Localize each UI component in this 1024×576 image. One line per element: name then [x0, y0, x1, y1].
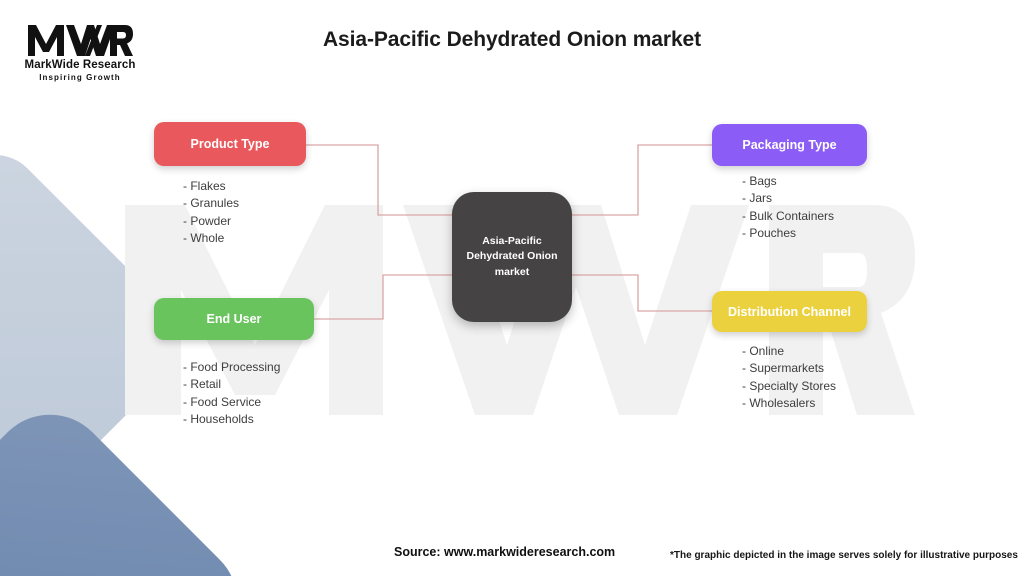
- node-product-type[interactable]: Product Type: [154, 122, 306, 166]
- logo-company-name: MarkWide Research: [16, 59, 144, 71]
- list-item: - Food Service: [183, 394, 280, 411]
- list-item: - Specialty Stores: [742, 378, 836, 395]
- node-packaging-type-label: Packaging Type: [742, 138, 836, 152]
- list-end-user: - Food Processing - Retail - Food Servic…: [183, 359, 280, 429]
- connector-product-type: [306, 145, 452, 215]
- connector-end-user: [314, 275, 452, 319]
- footer-source[interactable]: Source: www.markwideresearch.com: [394, 545, 615, 559]
- logo-tagline: Inspiring Growth: [16, 73, 144, 82]
- node-distribution-channel-label: Distribution Channel: [728, 305, 851, 319]
- node-center-market-label: Asia-Pacific Dehydrated Onion market: [460, 234, 563, 280]
- node-end-user[interactable]: End User: [154, 298, 314, 340]
- decorative-shape-light: [0, 136, 200, 546]
- list-item: - Supermarkets: [742, 360, 836, 377]
- center-line-1: Asia-Pacific: [482, 235, 542, 247]
- list-item: - Bags: [742, 173, 834, 190]
- list-item: - Granules: [183, 195, 239, 212]
- list-item: - Online: [742, 343, 836, 360]
- connector-packaging-type: [572, 145, 712, 215]
- connector-distribution-channel: [572, 275, 712, 311]
- list-item: - Powder: [183, 213, 239, 230]
- node-product-type-label: Product Type: [191, 137, 270, 151]
- list-item: - Retail: [183, 376, 280, 393]
- list-distribution-channel: - Online - Supermarkets - Specialty Stor…: [742, 343, 836, 413]
- list-item: - Bulk Containers: [742, 208, 834, 225]
- center-line-2: Dehydrated Onion: [466, 250, 557, 262]
- list-item: - Food Processing: [183, 359, 280, 376]
- list-item: - Pouches: [742, 225, 834, 242]
- center-line-3: market: [495, 266, 529, 278]
- node-packaging-type[interactable]: Packaging Type: [712, 124, 867, 166]
- list-packaging-type: - Bags - Jars - Bulk Containers - Pouche…: [742, 173, 834, 243]
- list-item: - Households: [183, 411, 280, 428]
- node-distribution-channel[interactable]: Distribution Channel: [712, 291, 867, 332]
- node-center-market[interactable]: Asia-Pacific Dehydrated Onion market: [452, 192, 572, 322]
- page-title: Asia-Pacific Dehydrated Onion market: [0, 28, 1024, 52]
- infographic-canvas: MarkWide Research Inspiring Growth Asia-…: [0, 0, 1024, 576]
- list-product-type: - Flakes - Granules - Powder - Whole: [183, 178, 239, 248]
- list-item: - Jars: [742, 190, 834, 207]
- list-item: - Flakes: [183, 178, 239, 195]
- footer-disclaimer: *The graphic depicted in the image serve…: [670, 550, 1018, 561]
- node-end-user-label: End User: [207, 312, 262, 326]
- list-item: - Whole: [183, 230, 239, 247]
- list-item: - Wholesalers: [742, 395, 836, 412]
